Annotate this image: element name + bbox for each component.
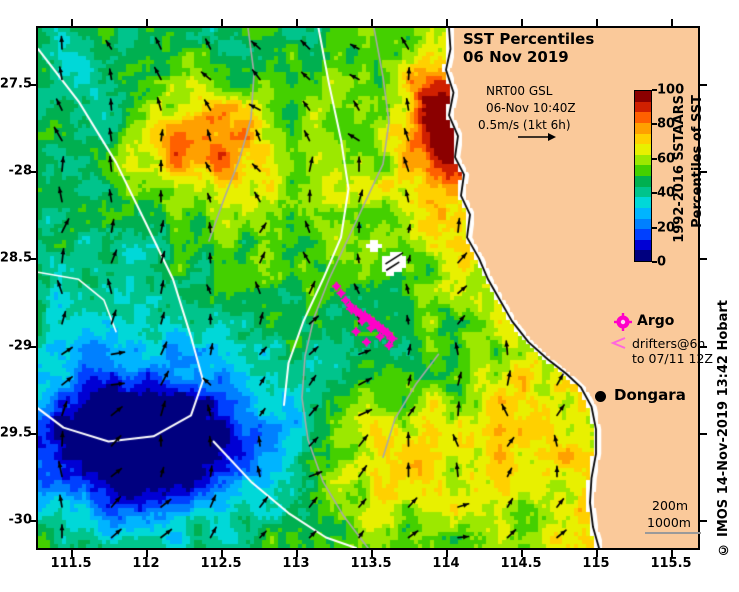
copyright-credit: © IMOS 14-Nov-2019 13:42 Hobart [716, 300, 731, 557]
x-tick-label: 115.5 [650, 556, 691, 571]
x-tick-mark [221, 550, 223, 557]
y-tick-mark-right [700, 171, 707, 173]
argo-legend-label: Argo [637, 313, 674, 329]
colorbar-title-variable: Percentiles of SST [690, 95, 705, 228]
y-tick-label: -27.5 [0, 76, 32, 91]
sst-percentile-map [36, 26, 700, 550]
y-tick-mark [29, 433, 36, 435]
current-vector-arrow-icon [516, 130, 556, 144]
colorbar-segment [635, 144, 651, 155]
colorbar-tick-mark [652, 227, 657, 229]
y-tick-mark-right [700, 346, 707, 348]
colorbar-segment [635, 123, 651, 134]
contour-legend-line [645, 532, 701, 534]
x-tick-mark [371, 550, 373, 557]
y-tick-mark-right [700, 258, 707, 260]
x-tick-label: 111.5 [50, 556, 91, 571]
y-tick-label: -29.5 [0, 425, 32, 440]
x-tick-mark [521, 550, 523, 557]
colorbar-segment [635, 219, 651, 230]
x-tick-mark [671, 550, 673, 557]
colorbar-segment [635, 155, 651, 166]
y-tick-mark [29, 171, 36, 173]
colorbar-tick-mark [652, 123, 657, 125]
x-tick-mark-top [371, 19, 373, 26]
x-tick-label: 113.5 [350, 556, 391, 571]
colorbar-segment [635, 208, 651, 219]
annotation-datetime: 06-Nov 10:40Z [486, 101, 576, 115]
contour-legend-1000m: 1000m [647, 515, 691, 530]
colorbar-segment [635, 102, 651, 113]
colorbar-segment [635, 91, 651, 102]
colorbar-title-dataset: 1992-2016 SSTAARS [672, 95, 687, 243]
contour-legend-200m: 200m [652, 498, 688, 513]
y-tick-mark [29, 520, 36, 522]
colorbar-segment [635, 250, 651, 261]
map-title-line2: 06 Nov 2019 [463, 48, 569, 66]
x-tick-mark-top [446, 19, 448, 26]
place-label-dongara: Dongara [614, 386, 686, 404]
x-tick-label: 115 [582, 556, 609, 571]
y-tick-mark-right [700, 84, 707, 86]
x-tick-label: 113 [282, 556, 309, 571]
map-overlay-layer [38, 28, 698, 548]
y-tick-label: -28.5 [0, 251, 32, 266]
colorbar-segment [635, 240, 651, 251]
x-tick-mark-top [221, 19, 223, 26]
argo-marker-icon [614, 313, 632, 331]
x-tick-mark [146, 550, 148, 557]
map-title-line1: SST Percentiles [463, 30, 594, 48]
x-tick-mark [446, 550, 448, 557]
y-tick-mark [29, 84, 36, 86]
x-tick-label: 114 [432, 556, 459, 571]
colorbar-segment [635, 112, 651, 123]
y-tick-mark-right [700, 433, 707, 435]
annotation-product: NRT00 GSL [486, 84, 552, 98]
colorbar-tick-mark [652, 158, 657, 160]
x-tick-mark [596, 550, 598, 557]
x-tick-mark-top [521, 19, 523, 26]
colorbar-segment [635, 165, 651, 176]
x-tick-mark-top [596, 19, 598, 26]
colorbar-segment [635, 229, 651, 240]
x-tick-mark-top [671, 19, 673, 26]
colorbar-tick-label: 0 [657, 255, 666, 270]
drifter-legend-line1: drifters@6h [632, 336, 705, 351]
x-tick-mark [71, 550, 73, 557]
drifter-legend-line2: to 07/11 12Z [632, 351, 713, 366]
colorbar-segment [635, 197, 651, 208]
x-tick-mark [296, 550, 298, 557]
colorbar-tick-mark [652, 192, 657, 194]
y-tick-mark [29, 346, 36, 348]
drifter-track-icon [610, 336, 628, 350]
colorbar-segment [635, 176, 651, 187]
colorbar-segment [635, 187, 651, 198]
colorbar [634, 90, 652, 262]
colorbar-segment [635, 134, 651, 145]
colorbar-tick-mark [652, 89, 657, 91]
y-tick-mark-right [700, 520, 707, 522]
x-tick-label: 112 [132, 556, 159, 571]
x-tick-mark-top [296, 19, 298, 26]
y-tick-mark [29, 258, 36, 260]
colorbar-tick-mark [652, 261, 657, 263]
x-tick-label: 114.5 [500, 556, 541, 571]
x-tick-mark-top [71, 19, 73, 26]
dongara-marker [595, 391, 606, 402]
x-tick-mark-top [146, 19, 148, 26]
x-tick-label: 112.5 [200, 556, 241, 571]
